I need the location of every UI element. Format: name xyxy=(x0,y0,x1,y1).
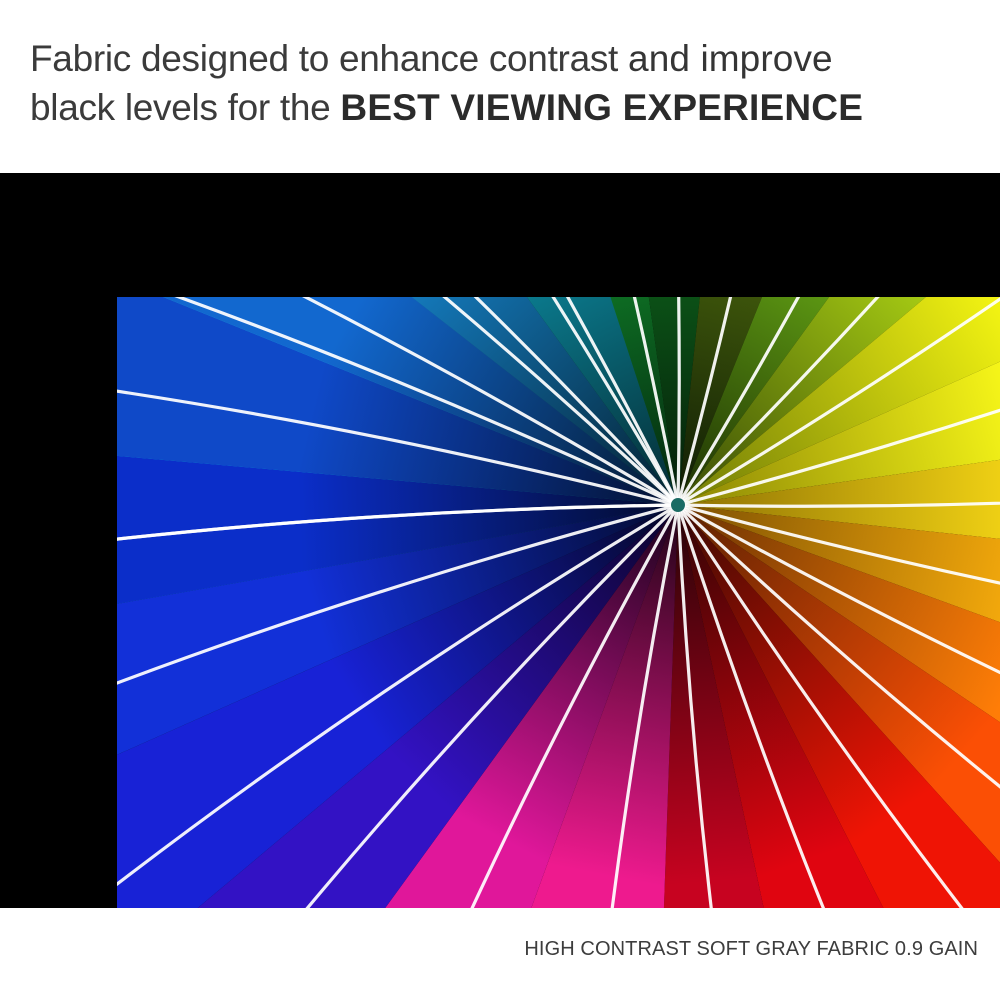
headline-line-2-light: black levels for the xyxy=(30,87,340,128)
fabric-spec-caption: HIGH CONTRAST SOFT GRAY FABRIC 0.9 GAIN xyxy=(524,938,978,961)
headline-line-1: Fabric designed to enhance contrast and … xyxy=(30,34,972,83)
projector-screen-image xyxy=(117,297,1000,908)
color-burst-svg xyxy=(117,297,1000,908)
headline-line-1-emphasis: and improve xyxy=(628,38,833,79)
caption-bar: HIGH CONTRAST SOFT GRAY FABRIC 0.9 GAIN xyxy=(0,908,1000,1000)
projector-stage-black-frame xyxy=(0,173,1000,908)
headline-line-2-bold: BEST VIEWING EXPERIENCE xyxy=(340,87,863,128)
headline-line-2: black levels for the BEST VIEWING EXPERI… xyxy=(30,83,972,132)
headline-line-1-light: Fabric designed to enhance contrast xyxy=(30,38,628,79)
burst-center-dot xyxy=(671,498,685,512)
headline-block: Fabric designed to enhance contrast and … xyxy=(0,0,1000,173)
